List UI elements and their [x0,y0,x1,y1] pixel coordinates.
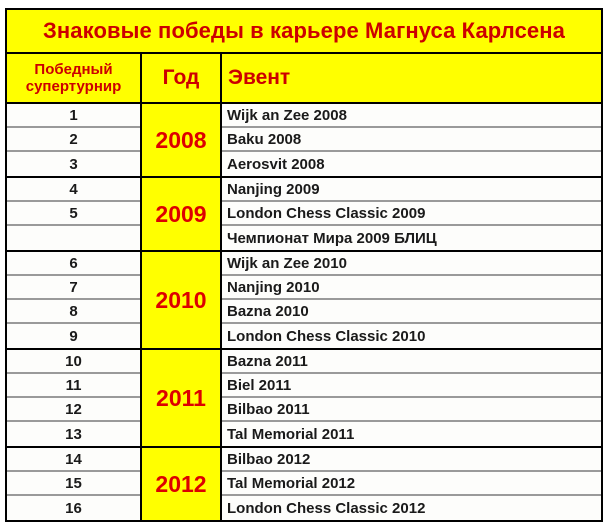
year-label: 2008 [155,129,206,152]
table-row-event: London Chess Classic 2012 [222,496,601,520]
year-cell: 2012 [142,448,222,520]
year-cell: 2008 [142,104,222,176]
number-column-group: 123 [7,104,142,176]
table-row-number: 15 [7,472,140,496]
infographic-table-page: Знаковые победы в карьере Магнуса Карлсе… [0,0,610,491]
table-row-number: 16 [7,496,140,520]
table-row-number: 9 [7,324,140,348]
year-label: 2011 [156,387,206,410]
year-group: 452009Nanjing 2009London Chess Classic 2… [7,178,601,252]
number-column-group: 6789 [7,252,142,348]
year-label: 2010 [155,289,206,312]
table-row-event: London Chess Classic 2010 [222,324,601,348]
column-header-event: Эвент [222,54,601,102]
column-header-year: Год [142,54,222,102]
event-column-group: Nanjing 2009London Chess Classic 2009Чем… [222,178,601,250]
event-column-group: Bazna 2011Biel 2011Bilbao 2011Tal Memori… [222,350,601,446]
year-cell: 2009 [142,178,222,250]
number-column-group: 141516 [7,448,142,520]
table-row-event: Bazna 2010 [222,300,601,324]
table-header-row: Победный супертурнир Год Эвент [5,54,603,104]
table-row-event: Nanjing 2009 [222,178,601,202]
table-row-number: 3 [7,152,140,176]
event-column-group: Bilbao 2012Tal Memorial 2012London Chess… [222,448,601,520]
table-row-event: Biel 2011 [222,374,601,398]
table-row-number: 11 [7,374,140,398]
number-column-group: 10111213 [7,350,142,446]
year-cell: 2010 [142,252,222,348]
column-header-number-line1: Победный [34,61,112,78]
table-row-number: 13 [7,422,140,446]
year-group: 1415162012Bilbao 2012Tal Memorial 2012Lo… [7,448,601,520]
table-row-event: Wijk an Zee 2010 [222,252,601,276]
number-column-group: 45 [7,178,142,250]
table-row-event: Tal Memorial 2012 [222,472,601,496]
table-title-banner: Знаковые победы в карьере Магнуса Карлсе… [5,8,603,54]
year-group: 101112132011Bazna 2011Biel 2011Bilbao 20… [7,350,601,448]
year-label: 2009 [155,203,206,226]
table-row-number: 4 [7,178,140,202]
table-row-number: 12 [7,398,140,422]
table-row-number: 6 [7,252,140,276]
table-row-event: Baku 2008 [222,128,601,152]
table-row-event: Bilbao 2012 [222,448,601,472]
table-row-event: Tal Memorial 2011 [222,422,601,446]
table-row-number: 1 [7,104,140,128]
table-row-event: Nanjing 2010 [222,276,601,300]
column-header-number: Победный супертурнир [7,54,142,102]
year-group: 1232008Wijk an Zee 2008Baku 2008Aerosvit… [7,104,601,178]
page-title: Знаковые победы в карьере Магнуса Карлсе… [43,20,565,42]
table-row-event: Aerosvit 2008 [222,152,601,176]
year-cell: 2011 [142,350,222,446]
table-row-event: London Chess Classic 2009 [222,202,601,226]
column-header-number-line2: супертурнир [26,78,122,95]
year-group: 67892010Wijk an Zee 2010Nanjing 2010Bazn… [7,252,601,350]
table-body: 1232008Wijk an Zee 2008Baku 2008Aerosvit… [5,104,603,522]
table-row-event: Чемпионат Мира 2009 БЛИЦ [222,226,601,250]
table-row-number: 2 [7,128,140,152]
table-row-number: 7 [7,276,140,300]
year-label: 2012 [155,473,206,496]
event-column-group: Wijk an Zee 2010Nanjing 2010Bazna 2010Lo… [222,252,601,348]
table-row-number: 10 [7,350,140,374]
table-row-event: Bazna 2011 [222,350,601,374]
table-row-number: 5 [7,202,140,226]
table-row-number: 8 [7,300,140,324]
table-row-number [7,226,140,250]
table-row-number: 14 [7,448,140,472]
table-row-event: Wijk an Zee 2008 [222,104,601,128]
event-column-group: Wijk an Zee 2008Baku 2008Aerosvit 2008 [222,104,601,176]
table-row-event: Bilbao 2011 [222,398,601,422]
